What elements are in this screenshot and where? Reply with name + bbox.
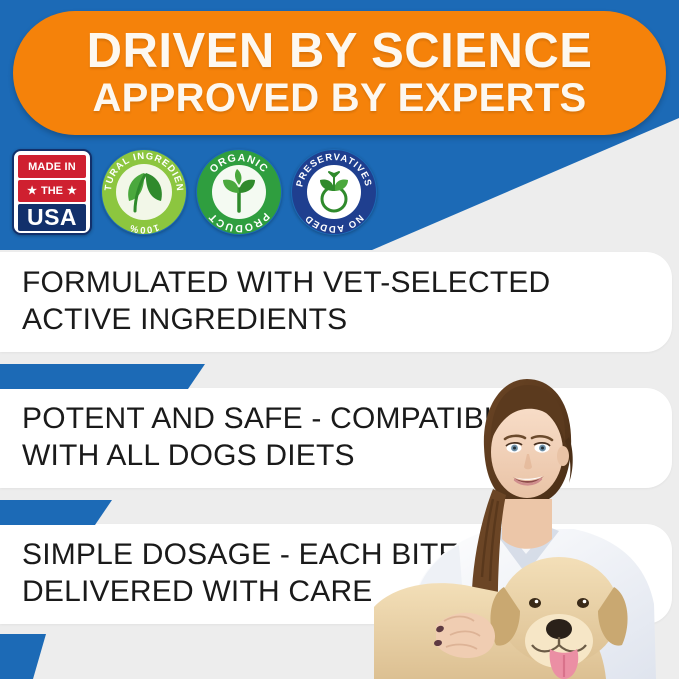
star-icon-right: ★ bbox=[67, 186, 77, 197]
headline-secondary: APPROVED BY EXPERTS bbox=[93, 77, 587, 119]
usa-made-in-label: MADE IN bbox=[28, 161, 76, 173]
natural-ingredients-badge: NATURAL INGREDIENTS 100% bbox=[101, 149, 187, 235]
made-in-usa-badge: MADE IN ★ THE ★ USA bbox=[12, 149, 92, 235]
feature-card-line-1: FORMULATED WITH VET-SELECTED bbox=[22, 265, 672, 302]
star-icon-left: ★ bbox=[27, 186, 37, 197]
usa-label: USA bbox=[27, 204, 77, 231]
usa-made-in-band: MADE IN bbox=[18, 155, 86, 178]
usa-the-label: THE bbox=[41, 185, 63, 197]
usa-the-band: ★ THE ★ bbox=[18, 180, 86, 202]
headline-primary: DRIVEN BY SCIENCE bbox=[87, 27, 593, 75]
feature-card-line-2: ACTIVE INGREDIENTS bbox=[22, 302, 672, 339]
headline-banner: DRIVEN BY SCIENCE APPROVED BY EXPERTS bbox=[13, 11, 666, 135]
usa-band: USA bbox=[18, 204, 86, 231]
trust-badge-row: MADE IN ★ THE ★ USA NATURAL bbox=[12, 146, 377, 238]
feature-card-formulated: FORMULATED WITH VET-SELECTED ACTIVE INGR… bbox=[0, 252, 672, 352]
blue-accent-bar-1 bbox=[0, 364, 205, 389]
vet-and-dog-photo bbox=[374, 349, 679, 679]
blue-accent-bar-2 bbox=[0, 500, 112, 525]
no-added-preservatives-badge: PRESERVATIVES NO ADDED bbox=[291, 149, 377, 235]
organic-product-badge: ORGANIC PRODUCT bbox=[196, 149, 282, 235]
